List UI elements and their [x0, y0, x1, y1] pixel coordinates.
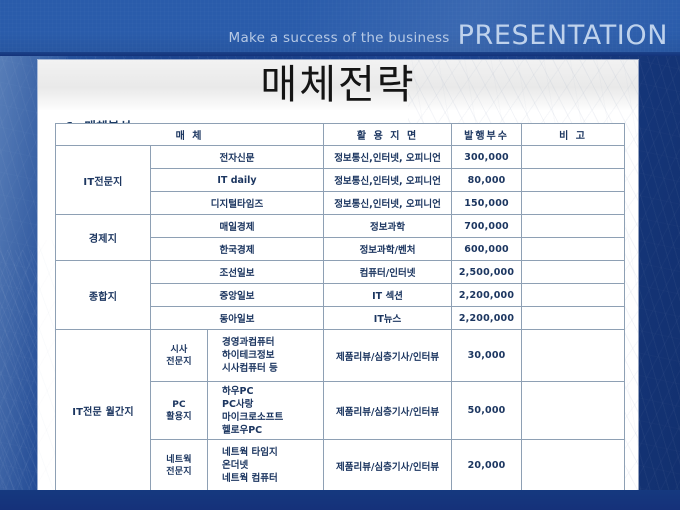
- media-remarks: [522, 330, 625, 382]
- media-usage: 정보통신,인터넷, 오피니언: [324, 192, 452, 215]
- media-circulation: 30,000: [452, 330, 522, 382]
- media-title-list: 하우PC PC사랑 마이크로소프트 헬로우PC: [208, 382, 324, 440]
- presentation-slide: Make a success of the business PRESENTAT…: [0, 0, 680, 510]
- media-remarks: [522, 382, 625, 440]
- media-title: IT daily: [151, 169, 324, 192]
- subgroup-line-2: 활용지: [166, 412, 191, 422]
- slide-top-banner: Make a success of the business PRESENTAT…: [0, 0, 680, 56]
- subgroup-label-current-affairs: 시사 전문지: [151, 330, 208, 382]
- media-title-item: 하이테크정보: [222, 350, 274, 361]
- media-remarks: [522, 215, 625, 238]
- media-analysis-table: 매 체 활 용 지 면 발행부수 비 고 IT전문지 전자신문 정보통신,인터넷…: [55, 123, 625, 492]
- media-usage: 정보과학/벤처: [324, 238, 452, 261]
- table-row: 종합지 조선일보 컴퓨터/인터넷 2,500,000: [56, 261, 625, 284]
- media-circulation: 2,200,000: [452, 307, 522, 330]
- media-title-item: 하우PC: [222, 386, 253, 397]
- media-title: 매일경제: [151, 215, 324, 238]
- group-label-general: 종합지: [56, 261, 151, 330]
- subgroup-line-2: 전문지: [166, 467, 191, 477]
- media-usage: 컴퓨터/인터넷: [324, 261, 452, 284]
- table-row: 경제지 매일경제 정보과학 700,000: [56, 215, 625, 238]
- media-title-item: 온더넷: [222, 460, 248, 471]
- media-usage: 정보통신,인터넷, 오피니언: [324, 146, 452, 169]
- media-remarks: [522, 307, 625, 330]
- media-circulation: 2,200,000: [452, 284, 522, 307]
- group-label-it: IT전문지: [56, 146, 151, 215]
- media-title-item: PC사랑: [222, 399, 253, 410]
- media-usage: 제품리뷰/심층기사/인터뷰: [324, 382, 452, 440]
- banner-tagline: Make a success of the business: [229, 30, 450, 46]
- media-title: 디지털타임즈: [151, 192, 324, 215]
- media-remarks: [522, 146, 625, 169]
- media-table-wrapper: 매 체 활 용 지 면 발행부수 비 고 IT전문지 전자신문 정보통신,인터넷…: [55, 123, 624, 492]
- media-title-item: 시사컴퓨터 등: [222, 363, 278, 374]
- table-row: IT전문 월간지 시사 전문지 경영과컴퓨터 하이테크정보 시사컴퓨터 등 제품…: [56, 330, 625, 382]
- subgroup-line-1: 시사: [171, 345, 188, 355]
- media-title: 전자신문: [151, 146, 324, 169]
- media-title-item: 마이크로소프트: [222, 412, 283, 423]
- media-title-list: 경영과컴퓨터 하이테크정보 시사컴퓨터 등: [208, 330, 324, 382]
- media-usage: 정보통신,인터넷, 오피니언: [324, 169, 452, 192]
- group-label-economy: 경제지: [56, 215, 151, 261]
- media-title-item: 네트웍 타임지: [222, 447, 278, 458]
- content-panel: 매체전략 1. 매체분석 매 체 활 용 지 면 발행부: [38, 60, 638, 490]
- header-circulation: 발행부수: [452, 124, 522, 146]
- media-title-item: 네트웍 컴퓨터: [222, 473, 278, 484]
- table-row: IT전문지 전자신문 정보통신,인터넷, 오피니언 300,000: [56, 146, 625, 169]
- media-title-list: 네트웍 타임지 온더넷 네트웍 컴퓨터: [208, 440, 324, 492]
- media-circulation: 600,000: [452, 238, 522, 261]
- media-usage: IT 섹션: [324, 284, 452, 307]
- media-title: 중앙일보: [151, 284, 324, 307]
- banner-text-group: Make a success of the business PRESENTAT…: [229, 18, 668, 49]
- media-usage: 정보과학: [324, 215, 452, 238]
- media-remarks: [522, 192, 625, 215]
- subgroup-line-1: PC: [172, 400, 186, 410]
- banner-title: PRESENTATION: [458, 20, 668, 51]
- group-label-monthly: IT전문 월간지: [56, 330, 151, 492]
- subgroup-label-pc: PC 활용지: [151, 382, 208, 440]
- media-circulation: 20,000: [452, 440, 522, 492]
- media-title-item: 경영과컴퓨터: [222, 337, 274, 348]
- media-usage: IT뉴스: [324, 307, 452, 330]
- banner-underline: [0, 52, 680, 56]
- media-title-item: 헬로우PC: [222, 425, 262, 436]
- media-circulation: 50,000: [452, 382, 522, 440]
- subgroup-line-1: 네트웍: [166, 455, 191, 465]
- media-circulation: 300,000: [452, 146, 522, 169]
- media-remarks: [522, 169, 625, 192]
- header-usage: 활 용 지 면: [324, 124, 452, 146]
- subgroup-line-2: 전문지: [166, 357, 191, 367]
- media-remarks: [522, 284, 625, 307]
- media-circulation: 80,000: [452, 169, 522, 192]
- header-remarks: 비 고: [522, 124, 625, 146]
- media-usage: 제품리뷰/심층기사/인터뷰: [324, 330, 452, 382]
- media-circulation: 2,500,000: [452, 261, 522, 284]
- media-circulation: 700,000: [452, 215, 522, 238]
- media-title: 동아일보: [151, 307, 324, 330]
- media-circulation: 150,000: [452, 192, 522, 215]
- page-title: 매체전략: [38, 58, 638, 112]
- subgroup-label-network: 네트웍 전문지: [151, 440, 208, 492]
- media-remarks: [522, 440, 625, 492]
- media-title: 한국경제: [151, 238, 324, 261]
- table-header-row: 매 체 활 용 지 면 발행부수 비 고: [56, 124, 625, 146]
- slide-bottom-band: [0, 490, 680, 510]
- media-title: 조선일보: [151, 261, 324, 284]
- media-remarks: [522, 238, 625, 261]
- media-usage: 제품리뷰/심층기사/인터뷰: [324, 440, 452, 492]
- media-remarks: [522, 261, 625, 284]
- header-media: 매 체: [56, 124, 324, 146]
